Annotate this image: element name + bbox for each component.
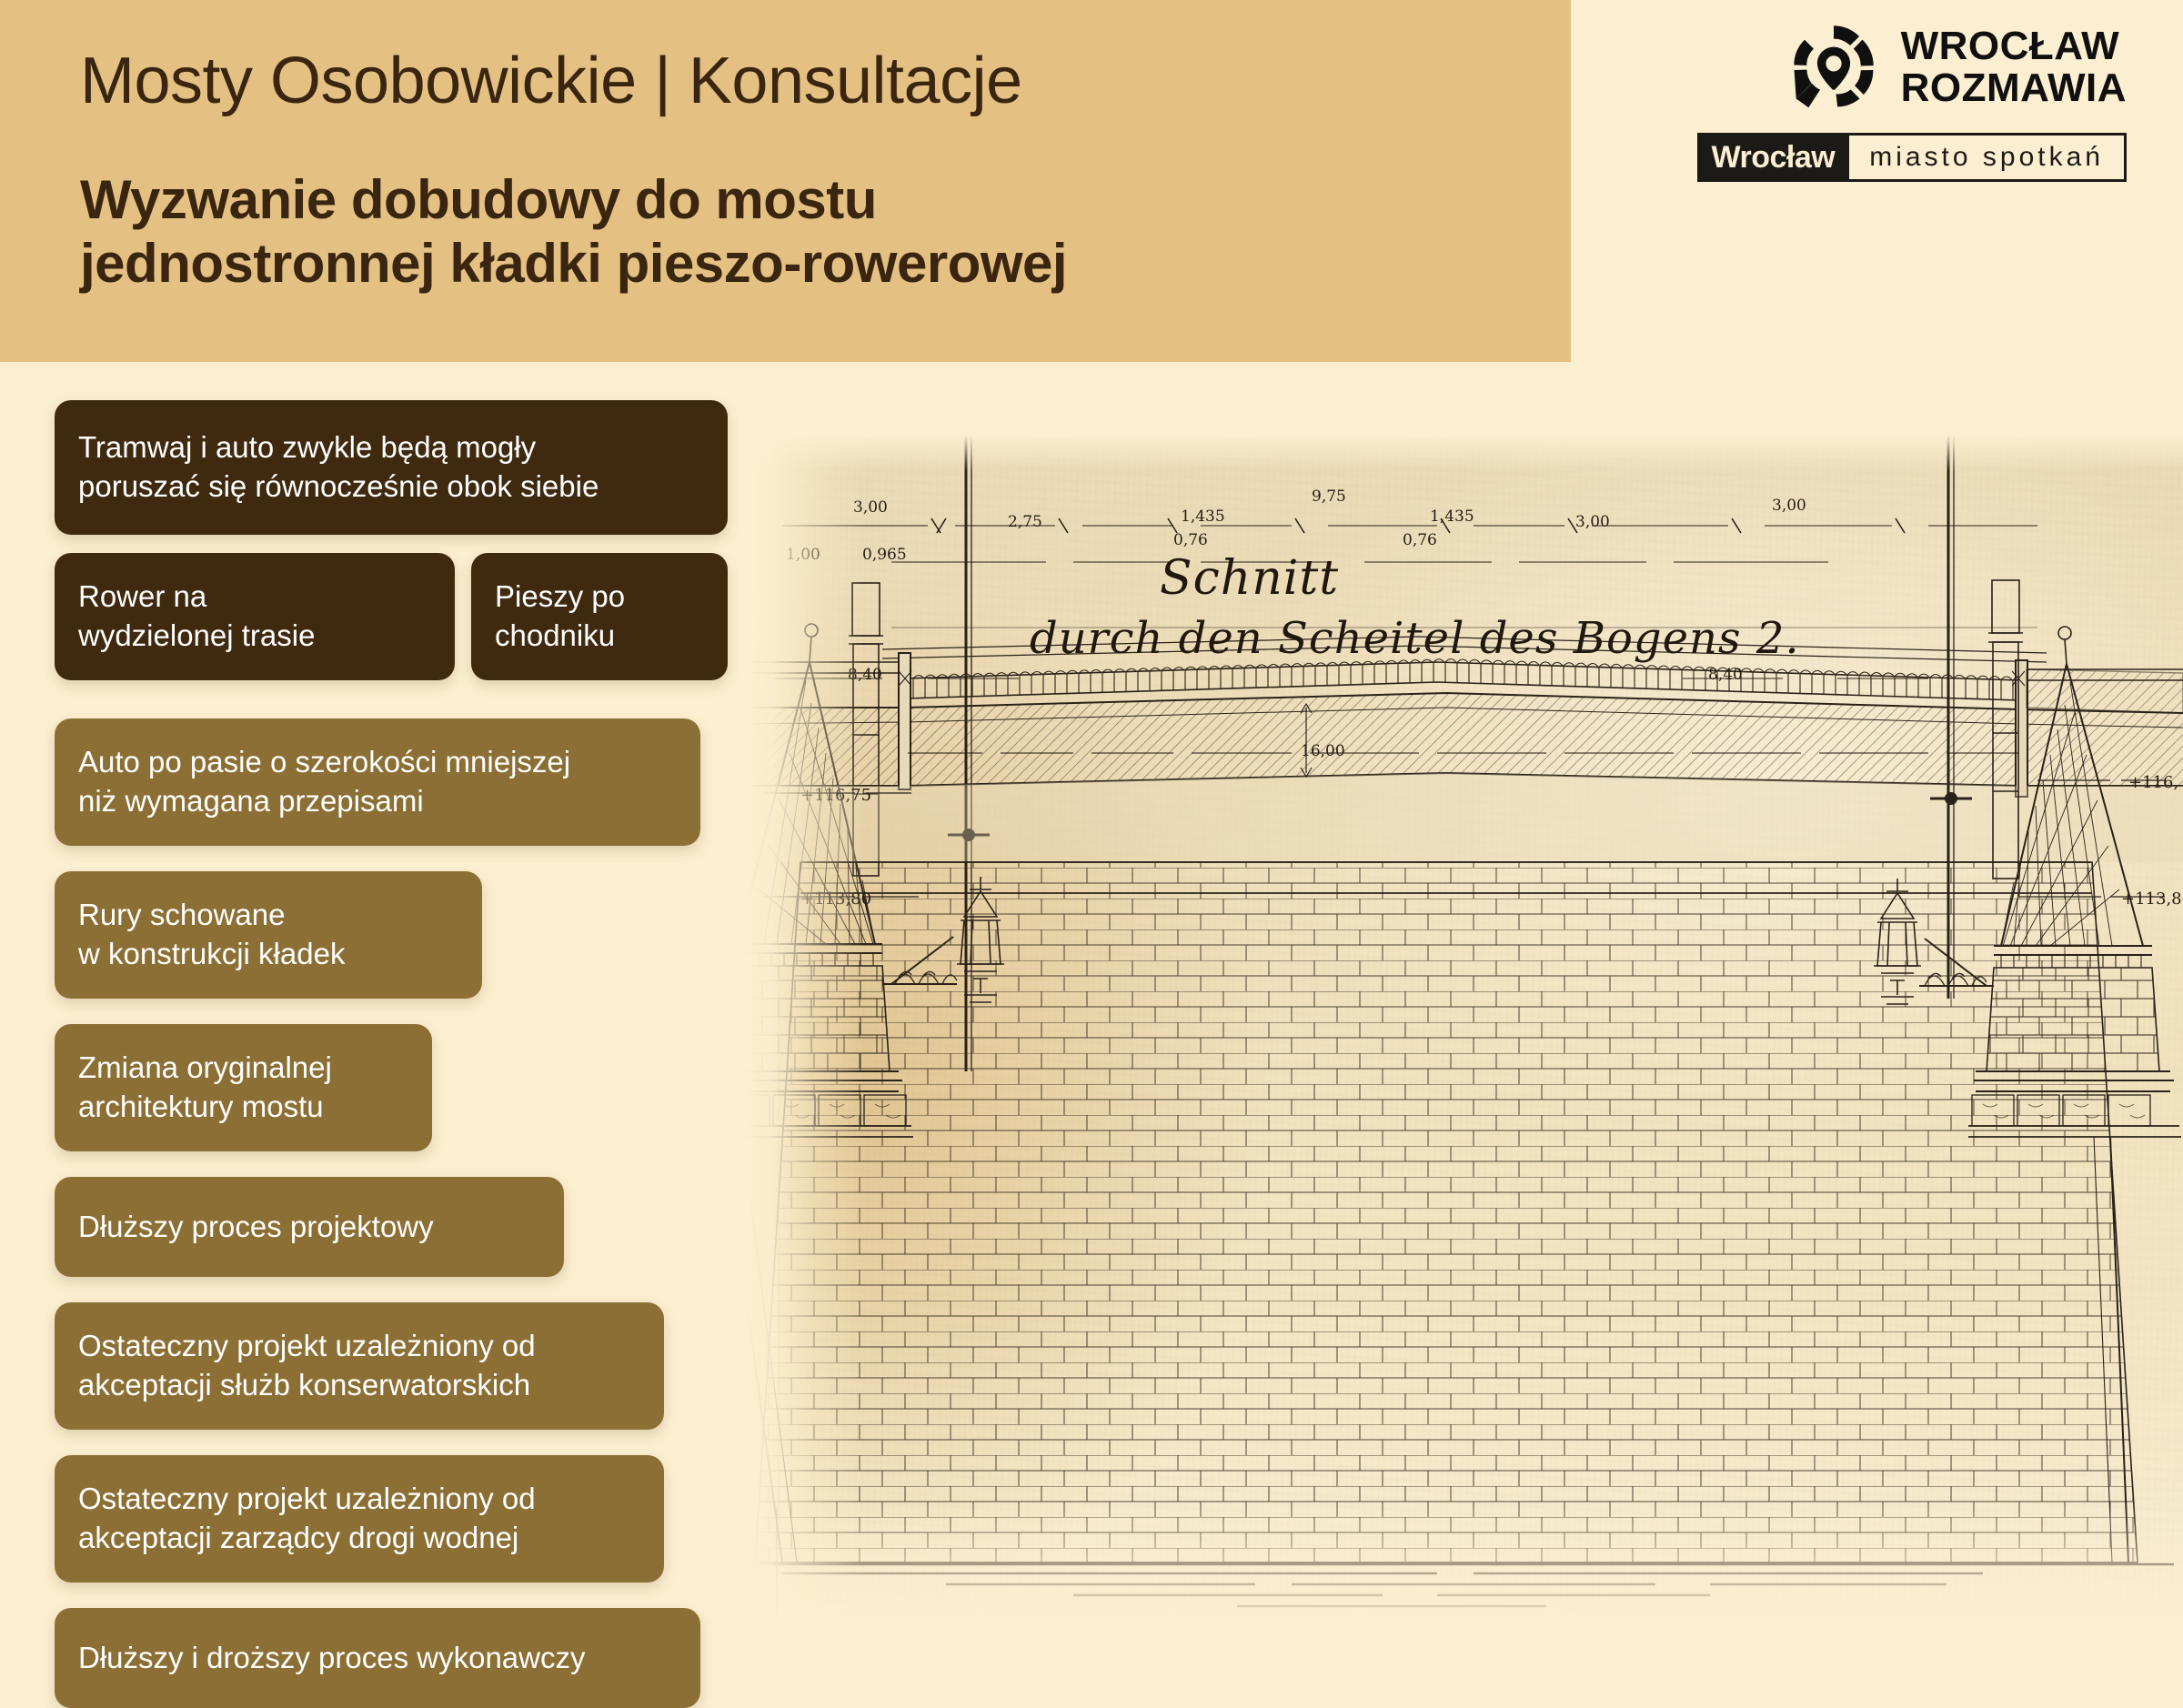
dimension-label: 0,965 (862, 546, 907, 564)
wordmark-line-2: ROZMAWIA (1901, 67, 2127, 109)
callout-tramwaj-auto: Tramwaj i auto zwykle będą mogły porusza… (55, 400, 728, 535)
dimension-label: 1,435 (1181, 507, 1225, 526)
city-badge-wroclaw: Wrocław (1697, 133, 1850, 182)
wroclaw-rozmawia-logo: WROCŁAW ROZMAWIA (1690, 20, 2127, 115)
wordmark-line-1: WROCŁAW (1901, 25, 2127, 67)
wroclaw-rozmawia-pin-icon (1786, 20, 1881, 115)
dimension-label: 16,00 (1301, 742, 1345, 760)
drawing-handwritten-title-line-1: Schnitt (1160, 551, 1339, 606)
callout-label: Ostateczny projekt uzależniony od akcept… (78, 1480, 536, 1558)
page-subtitle: Wyzwanie dobudowy do mostu jednostronnej… (80, 168, 1067, 296)
panel-bottom-fade (746, 1501, 2183, 1637)
logo-block: WROCŁAW ROZMAWIA Wrocław miasto spotkań (1690, 20, 2127, 202)
callout-rury-schowane: Rury schowane w konstrukcji kładek (55, 871, 482, 999)
callout-label: Ostateczny projekt uzależniony od akcept… (78, 1327, 536, 1405)
page-title: Mosty Osobowickie | Konsultacje (80, 44, 1022, 118)
callout-label: Rury schowane w konstrukcji kładek (78, 896, 345, 974)
callout-akceptacja-konserwatorska: Ostateczny projekt uzależniony od akcept… (55, 1302, 664, 1430)
historic-bridge-section-drawing: Schnitt durch den Scheitel des Bogens 2.… (746, 435, 2183, 1637)
panel-left-fade (746, 435, 864, 1637)
elevation-label: +116, (2128, 773, 2178, 792)
callout-rower-trasa: Rower na wydzielonej trasie (55, 553, 455, 680)
callout-label: Zmiana oryginalnej architektury mostu (78, 1049, 332, 1127)
dimension-label: 0,76 (1403, 531, 1437, 549)
callout-label: Tramwaj i auto zwykle będą mogły porusza… (78, 428, 599, 507)
callout-dluzszy-proces-projektowy: Dłuższy proces projektowy (55, 1177, 564, 1277)
callout-pieszy-chodnik: Pieszy po chodniku (471, 553, 728, 680)
callout-label: Pieszy po chodniku (495, 578, 625, 656)
callout-dluzszy-drozszy-wykonawczy: Dłuższy i droższy proces wykonawczy (55, 1608, 700, 1708)
dimension-label: 9,75 (1312, 487, 1346, 506)
dimension-label: 1,435 (1430, 507, 1474, 526)
callout-auto-waski-pas: Auto po pasie o szerokości mniejszej niż… (55, 718, 700, 846)
panel-top-fade (746, 435, 2183, 471)
header-band: Mosty Osobowickie | Konsultacje Wyzwanie… (0, 0, 1571, 362)
callout-label: Rower na wydzielonej trasie (78, 578, 315, 656)
drawing-handwritten-title-line-2: durch den Scheitel des Bogens 2. (1030, 613, 1800, 664)
callout-label: Dłuższy i droższy proces wykonawczy (78, 1639, 586, 1678)
dimension-label: 2,75 (1008, 513, 1042, 531)
dimension-label: 3,00 (1575, 513, 1610, 531)
callout-label: Dłuższy proces projektowy (78, 1208, 434, 1247)
page-subtitle-line-2: jednostronnej kładki pieszo-rowerowej (80, 232, 1067, 296)
callout-label: Auto po pasie o szerokości mniejszej niż… (78, 743, 570, 821)
callout-zmiana-architektury: Zmiana oryginalnej architektury mostu (55, 1024, 432, 1151)
dimension-label: 8,40 (1708, 666, 1743, 684)
elevation-label: +113,80 (2121, 889, 2183, 909)
wroclaw-rozmawia-wordmark: WROCŁAW ROZMAWIA (1901, 25, 2127, 109)
city-badge-slogan: miasto spotkań (1849, 133, 2127, 182)
city-badge: Wrocław miasto spotkań (1690, 133, 2127, 182)
dimension-label: 3,00 (1772, 497, 1806, 515)
callout-akceptacja-drogi-wodnej: Ostateczny projekt uzależniony od akcept… (55, 1455, 664, 1582)
dimension-label: 0,76 (1173, 531, 1208, 549)
page-subtitle-line-1: Wyzwanie dobudowy do mostu (80, 168, 1067, 232)
